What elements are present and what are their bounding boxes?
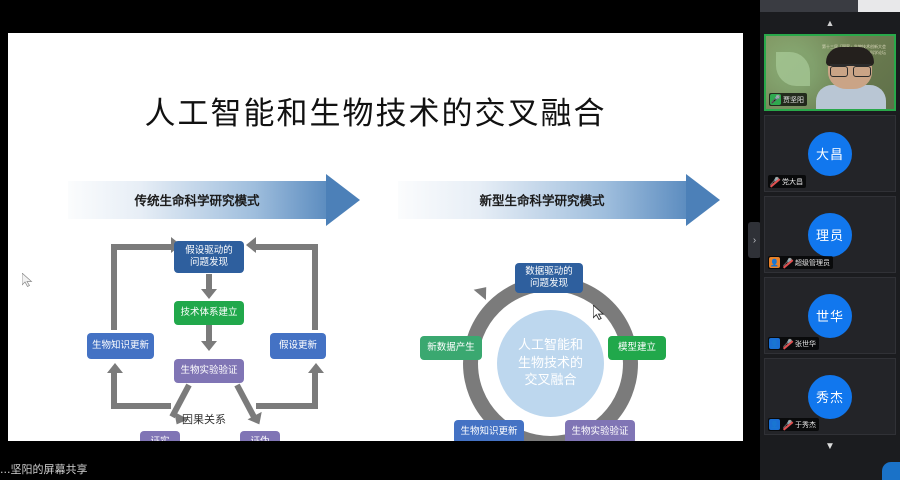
avatar: 理员: [808, 213, 852, 257]
node-line1: 假设驱动的: [185, 245, 233, 257]
participant-name: 于秀杰: [795, 420, 816, 430]
caption-causal-relation: 因果关系: [182, 411, 226, 427]
host-badge-icon: 👤: [769, 257, 780, 268]
node-bio-knowledge: 生物知识更新: [87, 333, 154, 359]
node-bio-experiment: 生物实验验证: [565, 420, 635, 441]
node-line1: 数据驱动的: [525, 266, 573, 278]
core-line2: 生物技术的: [518, 355, 583, 373]
shared-screen-region[interactable]: 人工智能和生物技术的交叉融合 传统生命科学研究模式 新型生命科学研究模式: [0, 0, 760, 455]
participant-name: 超级管理员: [795, 258, 830, 268]
banner-new-mode: 新型生命科学研究模式: [398, 173, 720, 226]
node-line2: 问题发现: [530, 278, 568, 290]
avatar: 世华: [808, 294, 852, 338]
core-line1: 人工智能和: [518, 337, 583, 355]
node-bio-experiment: 生物实验验证: [174, 359, 244, 383]
flow-line: [111, 244, 117, 330]
banner-shaft: 新型生命科学研究模式: [398, 181, 686, 219]
participant-tile-2[interactable]: 理员 👤 🎤 超级管理员: [764, 196, 896, 273]
node-tech-system: 技术体系建立: [174, 301, 244, 325]
name-badge: 👤 🎤 超级管理员: [768, 256, 833, 269]
scroll-up-arrow[interactable]: ▲: [764, 12, 896, 34]
node-model-build: 模型建立: [608, 336, 666, 360]
node-verified: 证实: [140, 431, 180, 441]
microphone-on-icon: 🎤: [770, 94, 781, 105]
microphone-muted-icon: 🎤: [782, 419, 793, 430]
flow-line: [234, 384, 256, 419]
name-badge: 🎤 党大昌: [768, 175, 806, 188]
name-badge: 🎤 贾坚阳: [769, 93, 807, 106]
flow-line: [111, 403, 171, 409]
avatar: 秀杰: [808, 375, 852, 419]
microphone-muted-icon: 🎤: [782, 338, 793, 349]
name-badge: 👤 🎤 张世华: [768, 337, 819, 350]
mouse-cursor-pointer: [593, 305, 605, 320]
participant-name: 贾坚阳: [783, 95, 804, 105]
flow-arrowhead: [107, 363, 123, 373]
node-line2: 问题发现: [190, 257, 228, 269]
node-hypothesis-driven: 假设驱动的 问题发现: [174, 241, 244, 273]
node-data-driven: 数据驱动的 问题发现: [515, 263, 583, 293]
node-hypothesis-update: 假设更新: [270, 333, 326, 359]
participant-tile-3[interactable]: 世华 👤 🎤 张世华: [764, 277, 896, 354]
banner-arrowhead: [326, 174, 360, 226]
window-titlebar-strip: [758, 0, 858, 12]
flow-line: [256, 403, 318, 409]
flow-line: [111, 244, 173, 250]
microphone-muted-icon: 🎤: [769, 176, 780, 187]
flow-line: [312, 244, 318, 330]
diagram-core-label: 人工智能和 生物技术的 交叉融合: [497, 310, 604, 417]
node-new-data: 新数据产生: [420, 336, 482, 360]
participant-tile-4[interactable]: 秀杰 👤 🎤 于秀杰: [764, 358, 896, 435]
scroll-down-arrow[interactable]: ▼: [760, 441, 900, 452]
avatar: 大昌: [808, 132, 852, 176]
meeting-controls-corner[interactable]: [882, 462, 900, 480]
flow-arrowhead: [201, 289, 217, 299]
banner-shaft: 传统生命科学研究模式: [68, 181, 326, 219]
cohost-badge-icon: 👤: [769, 338, 780, 349]
zoom-meeting-window: 人工智能和生物技术的交叉融合 传统生命科学研究模式 新型生命科学研究模式: [0, 0, 900, 480]
banner-label: 传统生命科学研究模式: [134, 190, 259, 209]
node-bio-knowledge: 生物知识更新: [454, 420, 524, 441]
mouse-cursor: [22, 273, 33, 287]
powerpoint-slide[interactable]: 人工智能和生物技术的交叉融合 传统生命科学研究模式 新型生命科学研究模式: [8, 33, 743, 441]
slide-title: 人工智能和生物技术的交叉融合: [8, 88, 743, 133]
flow-arrowhead: [201, 341, 217, 351]
participant-filmstrip[interactable]: ▲ 第十三届「国家」生物技术创新大会 生命科学论坛 🎤 贾坚阳 大昌: [760, 12, 900, 480]
banner-traditional-mode: 传统生命科学研究模式: [68, 173, 360, 226]
microphone-muted-icon: 🎤: [782, 257, 793, 268]
flow-line: [256, 244, 318, 250]
banner-label: 新型生命科学研究模式: [479, 190, 604, 209]
banner-arrowhead: [686, 174, 720, 226]
flow-arrowhead: [308, 363, 324, 373]
speaker-tile[interactable]: 第十三届「国家」生物技术创新大会 生命科学论坛 🎤 贾坚阳: [764, 34, 896, 111]
cohost-badge-icon: 👤: [769, 419, 780, 430]
core-line3: 交叉融合: [518, 372, 583, 390]
flow-arrowhead: [246, 237, 256, 253]
participant-tile-1[interactable]: 大昌 🎤 党大昌: [764, 115, 896, 192]
window-corner-strip: [858, 0, 900, 12]
person-silhouette: [814, 47, 888, 109]
screen-share-status: ...坚阳的屏幕共享: [0, 461, 88, 477]
node-falsified: 证伪: [240, 431, 280, 441]
name-badge: 👤 🎤 于秀杰: [768, 418, 819, 431]
participant-name: 张世华: [795, 339, 816, 349]
participant-name: 党大昌: [782, 177, 803, 187]
